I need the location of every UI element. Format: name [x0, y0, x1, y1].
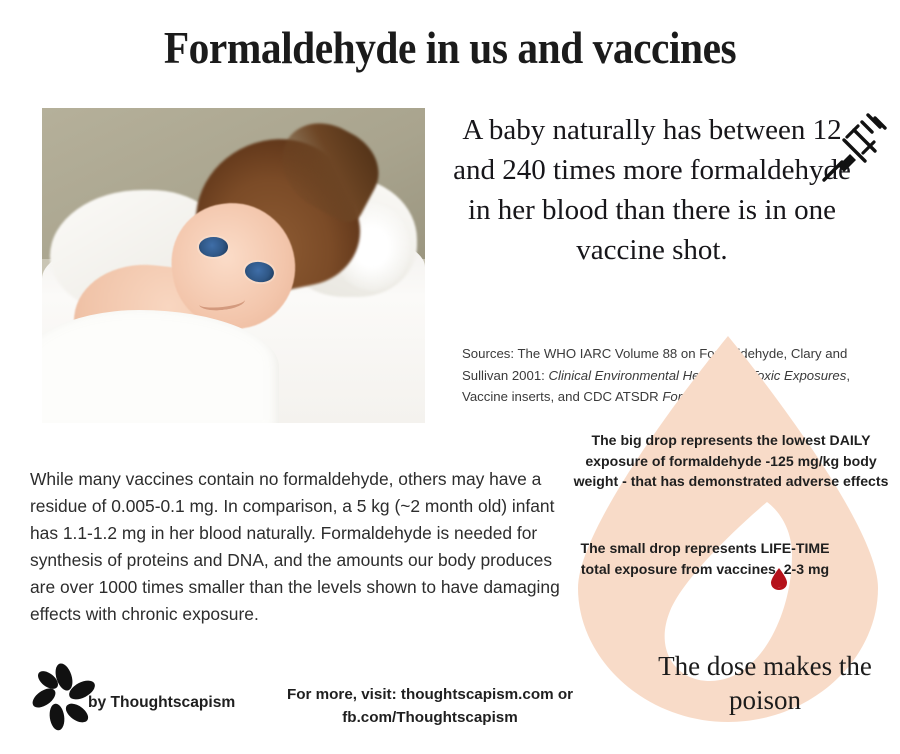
photo-baby-eye-left — [199, 237, 228, 257]
infographic-canvas: Formaldehyde in us and vaccines A baby n… — [0, 0, 900, 754]
footer-more-info: For more, visit: thoughtscapism.com or f… — [270, 684, 590, 730]
byline-text: by Thoughtscapism — [88, 694, 235, 712]
big-drop-annotation: The big drop represents the lowest DAILY… — [566, 430, 896, 492]
syringe-icon — [818, 112, 890, 186]
headline-text: A baby naturally has between 12 and 240 … — [452, 110, 852, 270]
small-drop-annotation: The small drop represents LIFE-TIME tota… — [580, 538, 830, 579]
blood-drop-icon — [769, 567, 789, 591]
page-title: Formaldehyde in us and vaccines — [36, 22, 864, 74]
tagline-text: The dose makes the poison — [640, 650, 890, 718]
baby-photo — [42, 108, 425, 423]
body-paragraph: While many vaccines contain no formaldeh… — [30, 466, 570, 628]
